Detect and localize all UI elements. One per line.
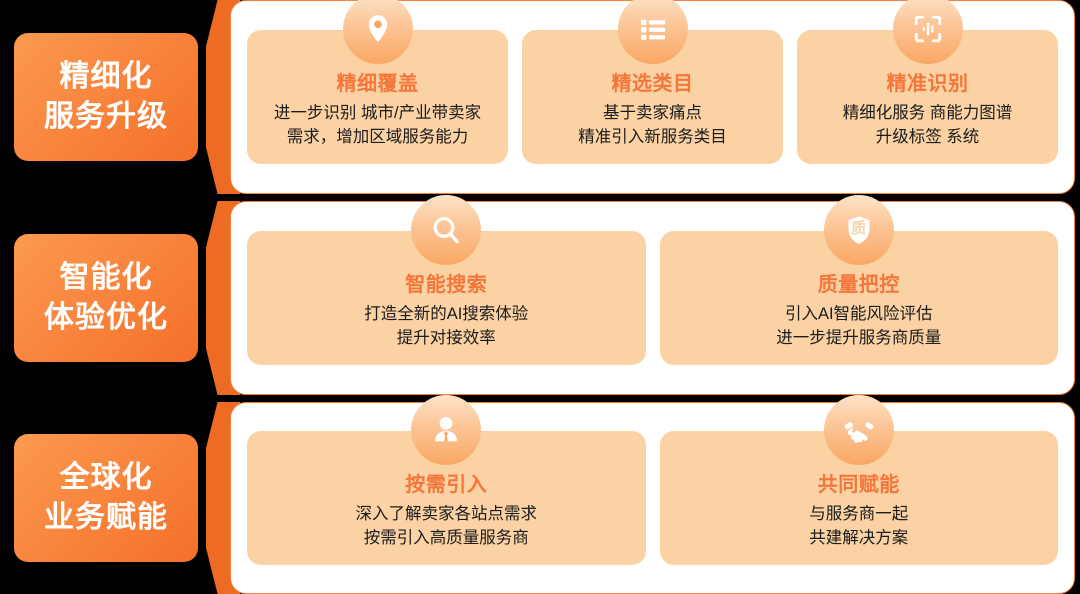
feature-card-title: 按需引入 xyxy=(405,473,487,497)
section-label-text-1: 智能化 体验优化 xyxy=(44,258,168,338)
shield-quality-icon-char: 质 xyxy=(824,221,894,236)
feature-card-title: 精细覆盖 xyxy=(337,72,419,96)
section-label-text-0: 精细化 服务升级 xyxy=(44,57,168,137)
section-label-tab-0: 精细化 服务升级 xyxy=(14,33,198,161)
section-row-2: 全球化 业务赋能 按需引入 深入了解卖家各站点需求 按需引入高质量服务商 xyxy=(0,402,1080,594)
section-label-tab-1: 智能化 体验优化 xyxy=(14,234,198,362)
section-panel-2: 按需引入 深入了解卖家各站点需求 按需引入高质量服务商 共同赋能 与服务商一起 xyxy=(230,402,1075,594)
feature-card[interactable]: 共同赋能 与服务商一起 共建解决方案 xyxy=(660,431,1059,565)
feature-card[interactable]: 质 质量把控 引入AI智能风险评估 进一步提升服务商质量 xyxy=(660,231,1059,365)
feature-card-line: 共建解决方案 xyxy=(809,527,908,551)
feature-card[interactable]: 精细覆盖 进一步识别 城市/产业带卖家 需求，增加区域服务能力 xyxy=(247,30,508,164)
feature-card-line: 提升对接效率 xyxy=(397,327,496,351)
location-pin-icon xyxy=(343,0,413,64)
feature-card-line: 进一步识别 城市/产业带卖家 xyxy=(274,102,481,126)
feature-card-line: 与服务商一起 xyxy=(809,503,908,527)
feature-card-line: 引入AI智能风险评估 xyxy=(785,303,933,327)
search-icon xyxy=(411,195,481,265)
feature-card-line: 需求，增加区域服务能力 xyxy=(287,126,469,150)
feature-card-title: 质量把控 xyxy=(818,273,900,297)
list-icon xyxy=(618,0,688,64)
section-label-tab-2: 全球化 业务赋能 xyxy=(14,434,198,562)
feature-card-line: 进一步提升服务商质量 xyxy=(776,327,941,351)
feature-card[interactable]: 按需引入 深入了解卖家各站点需求 按需引入高质量服务商 xyxy=(247,431,646,565)
scan-recognition-icon xyxy=(893,0,963,64)
feature-card[interactable]: 智能搜索 打造全新的AI搜索体验 提升对接效率 xyxy=(247,231,646,365)
feature-card[interactable]: 精准识别 精细化服务 商能力图谱 升级标签 系统 xyxy=(797,30,1058,164)
feature-card-title: 智能搜索 xyxy=(405,273,487,297)
section-row-1: 智能化 体验优化 智能搜索 打造全新的AI搜索体验 提升对接效率 xyxy=(0,201,1080,395)
feature-card-title: 精选类目 xyxy=(612,72,694,96)
feature-card-title: 精准识别 xyxy=(887,72,969,96)
feature-card[interactable]: 精选类目 基于卖家痛点 精准引入新服务类目 xyxy=(522,30,783,164)
section-label-text-2: 全球化 业务赋能 xyxy=(44,458,168,538)
feature-card-line: 深入了解卖家各站点需求 xyxy=(356,503,538,527)
feature-card-line: 升级标签 系统 xyxy=(876,126,980,150)
section-panel-0: 精细覆盖 进一步识别 城市/产业带卖家 需求，增加区域服务能力 精选类目 xyxy=(230,0,1075,194)
section-row-0: 精细化 服务升级 精细覆盖 进一步识别 城市/产业带卖家 需求，增加区域服务能力 xyxy=(0,0,1080,194)
feature-card-line: 打造全新的AI搜索体验 xyxy=(364,303,528,327)
section-panel-1: 智能搜索 打造全新的AI搜索体验 提升对接效率 质 质量把控 引入AI智能风险评… xyxy=(230,201,1075,395)
feature-card-title: 共同赋能 xyxy=(818,473,900,497)
business-person-icon xyxy=(411,395,481,465)
feature-card-line: 精准引入新服务类目 xyxy=(578,126,727,150)
infographic-board: 精细化 服务升级 精细覆盖 进一步识别 城市/产业带卖家 需求，增加区域服务能力 xyxy=(0,0,1080,594)
handshake-icon xyxy=(824,395,894,465)
feature-card-line: 精细化服务 商能力图谱 xyxy=(843,102,1013,126)
feature-card-line: 按需引入高质量服务商 xyxy=(364,527,529,551)
feature-card-line: 基于卖家痛点 xyxy=(603,102,702,126)
shield-quality-icon: 质 xyxy=(824,195,894,265)
